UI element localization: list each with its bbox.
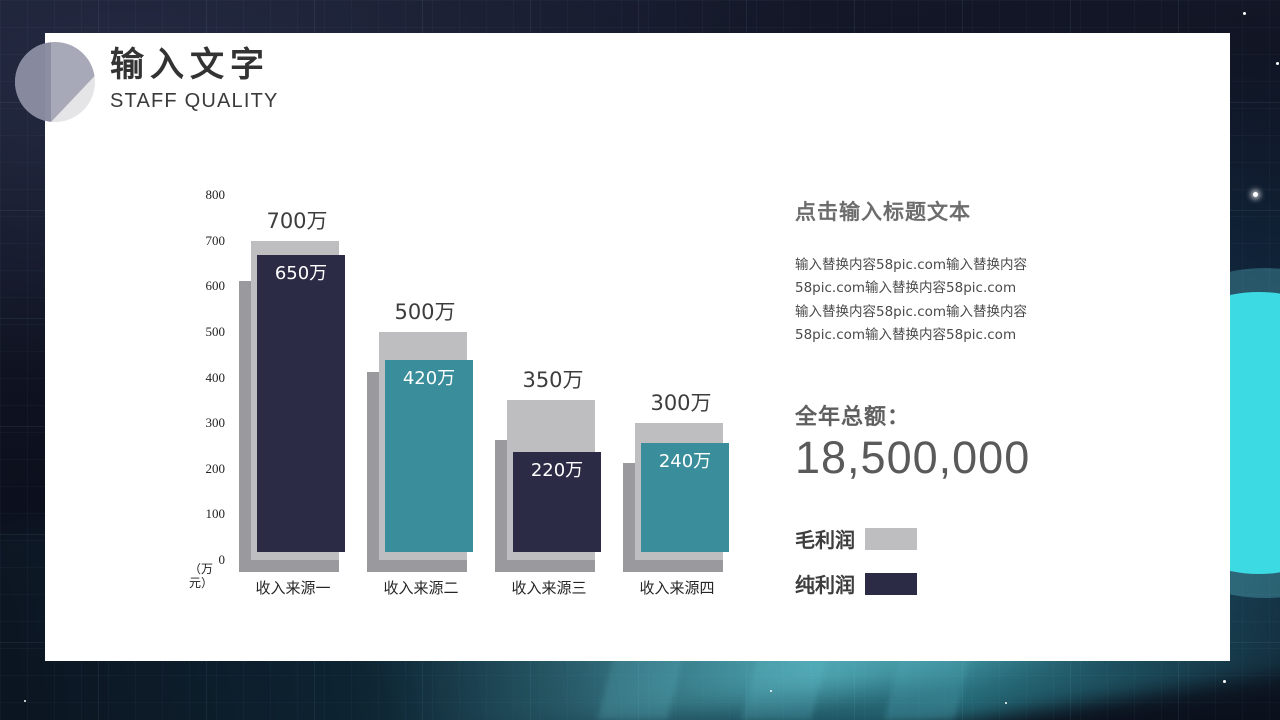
info-panel: 点击输入标题文本 输入替换内容58pic.com输入替换内容58pic.com输… bbox=[795, 196, 1125, 483]
total-label: 全年总额： bbox=[795, 399, 1125, 431]
chart-bar-group[interactable]: 700万650万收入来源一 bbox=[233, 180, 361, 560]
chart-y-tick: 200 bbox=[185, 461, 225, 477]
legend-item[interactable]: 纯利润 bbox=[795, 569, 917, 598]
chart-gross-label: 500万 bbox=[375, 296, 475, 326]
chart-net-label: 420万 bbox=[385, 364, 473, 390]
panel-body-text: 输入替换内容58pic.com输入替换内容58pic.com输入替换内容58pi… bbox=[795, 254, 1125, 347]
panel-body-line: 输入替换内容58pic.com输入替换内容 bbox=[795, 254, 1125, 277]
chart-net-label: 650万 bbox=[257, 259, 345, 285]
chart-bar-net[interactable] bbox=[257, 255, 345, 552]
chart-legend: 毛利润纯利润 bbox=[795, 524, 917, 614]
chart-plot-area: 700万650万收入来源一500万420万收入来源二350万220万收入来源三3… bbox=[233, 195, 745, 615]
chart-bar-group[interactable]: 500万420万收入来源二 bbox=[361, 180, 489, 560]
page-header: 输入文字 STAFF QUALITY bbox=[110, 45, 279, 113]
legend-item[interactable]: 毛利润 bbox=[795, 524, 917, 553]
legend-swatch bbox=[865, 528, 917, 550]
sparkle-icon bbox=[24, 700, 26, 702]
page-subtitle: STAFF QUALITY bbox=[110, 90, 279, 113]
sparkle-icon bbox=[1253, 192, 1258, 197]
chart-bar-group[interactable]: 300万240万收入来源四 bbox=[617, 180, 745, 560]
panel-body-line: 58pic.com输入替换内容58pic.com bbox=[795, 277, 1125, 300]
chart-net-label: 240万 bbox=[641, 447, 729, 473]
chart-y-tick: 600 bbox=[185, 278, 225, 294]
bar-chart: 8007006005004003002001000 （万元） 700万650万收… bbox=[185, 195, 745, 615]
panel-body-line: 58pic.com输入替换内容58pic.com bbox=[795, 324, 1125, 347]
chart-category-label: 收入来源一 bbox=[229, 577, 357, 598]
chart-y-tick: 700 bbox=[185, 233, 225, 249]
panel-body-line: 输入替换内容58pic.com输入替换内容 bbox=[795, 301, 1125, 324]
sparkle-icon bbox=[770, 690, 772, 692]
chart-y-tick: 500 bbox=[185, 324, 225, 340]
chart-gross-label: 350万 bbox=[503, 364, 603, 394]
legend-swatch bbox=[865, 573, 917, 595]
chart-y-tick: 400 bbox=[185, 370, 225, 386]
legend-label: 毛利润 bbox=[795, 524, 855, 553]
chart-gross-label: 700万 bbox=[247, 205, 347, 235]
page-title: 输入文字 bbox=[110, 45, 279, 85]
total-value: 18,500,000 bbox=[795, 433, 1125, 483]
chart-gross-label: 300万 bbox=[631, 387, 731, 417]
chart-y-tick: 800 bbox=[185, 187, 225, 203]
chart-y-tick: 300 bbox=[185, 415, 225, 431]
chart-category-label: 收入来源二 bbox=[357, 577, 485, 598]
legend-label: 纯利润 bbox=[795, 569, 855, 598]
chart-bar-group[interactable]: 350万220万收入来源三 bbox=[489, 180, 617, 560]
panel-title: 点击输入标题文本 bbox=[795, 196, 1125, 226]
chart-net-label: 220万 bbox=[513, 456, 601, 482]
sparkle-icon bbox=[1243, 12, 1246, 15]
chart-category-label: 收入来源四 bbox=[613, 577, 741, 598]
sparkle-icon bbox=[1005, 702, 1007, 704]
slide-root: 输入文字 STAFF QUALITY 800700600500400300200… bbox=[0, 0, 1280, 720]
chart-y-unit-label: （万元） bbox=[189, 563, 229, 591]
sparkle-icon bbox=[1223, 680, 1226, 683]
chart-category-label: 收入来源三 bbox=[485, 577, 613, 598]
chart-y-tick: 100 bbox=[185, 506, 225, 522]
sparkle-icon bbox=[1276, 62, 1279, 65]
